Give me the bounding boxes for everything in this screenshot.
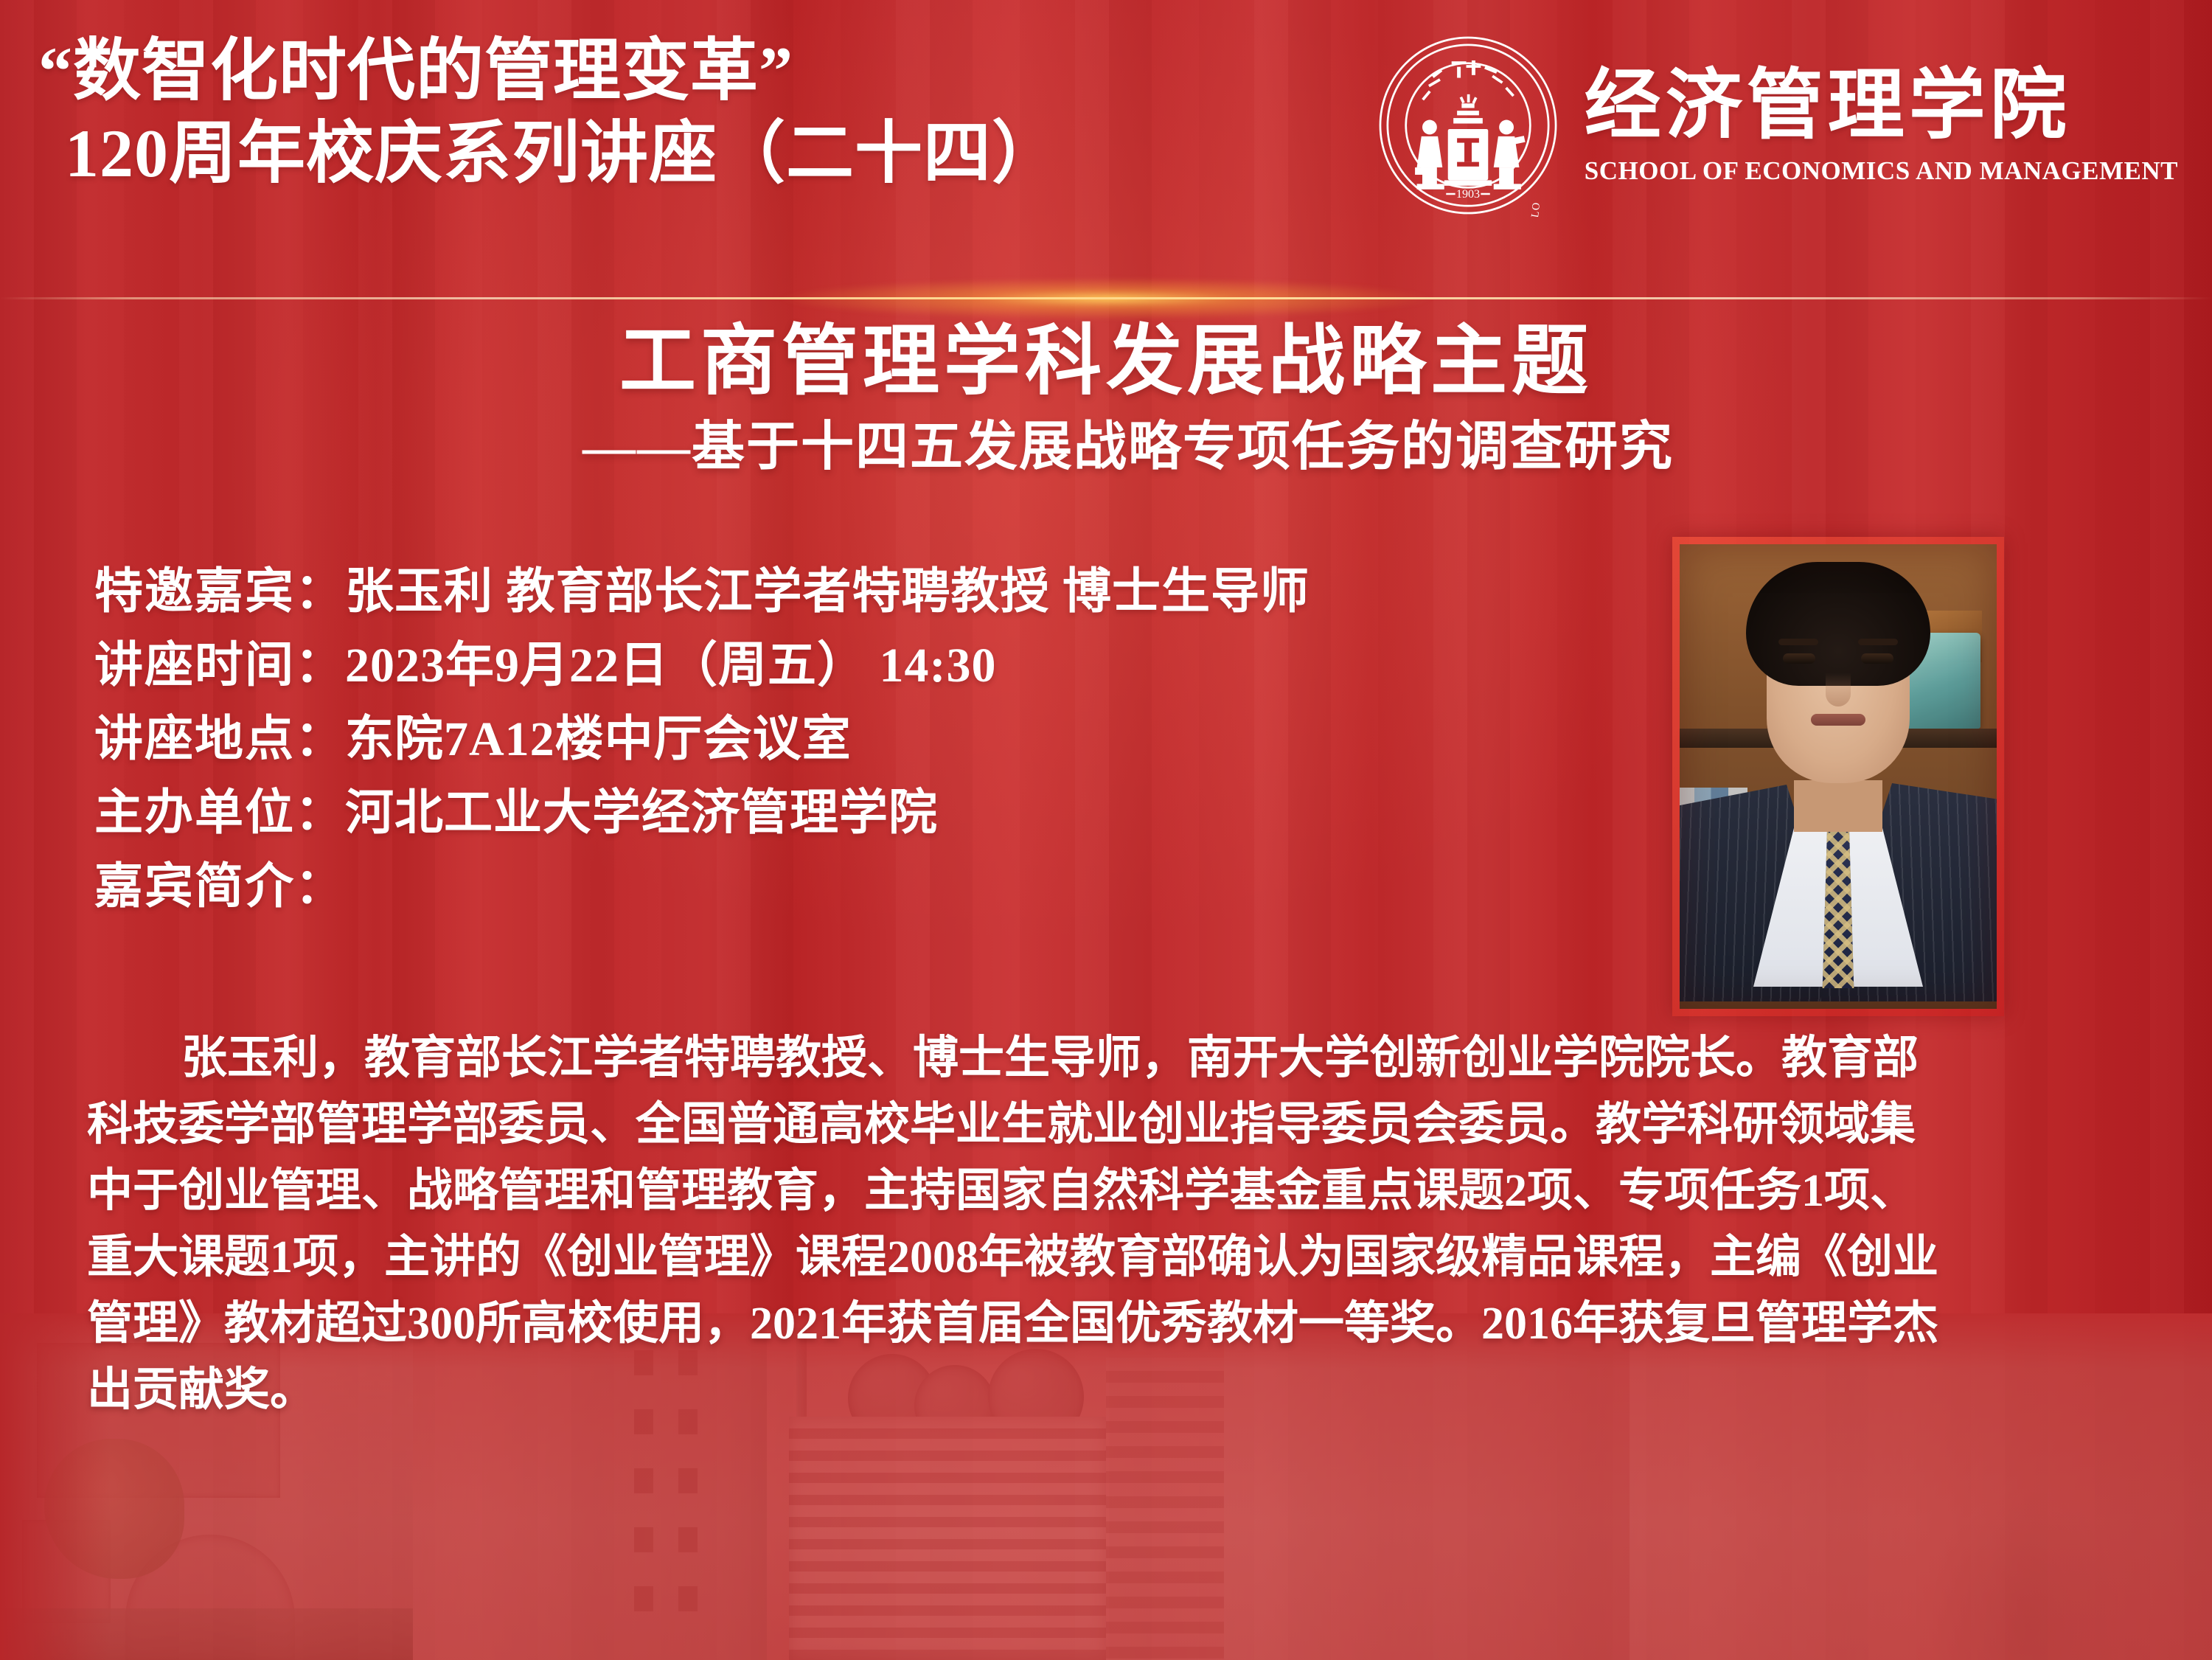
info-row-guest: 特邀嘉宾：张玉利 教育部长江学者特聘教授 博士生导师 (94, 568, 1628, 617)
bio-line: 重大课题1项，主讲的《创业管理》课程2008年被教育部确认为国家级精品课程，主编… (87, 1234, 2152, 1280)
speaker-portrait-frame (1672, 537, 2004, 1016)
info-label-time: 讲座时间： (94, 639, 345, 692)
info-row-bio-heading: 嘉宾简介： (94, 863, 1628, 911)
bio-line: 科技委学部管理学部委员、全国普通高校毕业生就业创业指导委员会委员。教学科研领域集 (87, 1102, 2152, 1147)
poster-header: “数智化时代的管理变革” 120周年校庆系列讲座（二十四） (0, 0, 2212, 288)
series-title: “数智化时代的管理变革” 120周年校庆系列讲座（二十四） (38, 29, 1277, 195)
series-title-line2: 120周年校庆系列讲座（二十四） (38, 112, 1277, 195)
lecture-info-block: 特邀嘉宾：张玉利 教育部长江学者特聘教授 博士生导师 讲座时间：2023年9月2… (94, 568, 1628, 937)
speaker-portrait (1680, 544, 1997, 1009)
speaker-bio: 张玉利，教育部长江学者特聘教授、博士生导师，南开大学创新创业学院院长。教育部 科… (87, 1035, 2152, 1434)
lecture-subtitle: ——基于十四五发展战略专项任务的调查研究 (0, 414, 2212, 480)
info-label-bio: 嘉宾简介： (94, 860, 345, 914)
info-label-location: 讲座地点： (94, 712, 345, 766)
university-seal-icon: 1903 HEBEI UNIVERSITY OF TECHNOLOGY (1377, 34, 1559, 217)
brand-text: 经济管理学院 SCHOOL OF ECONOMICS AND MANAGEMEN… (1585, 65, 2178, 186)
divider-line (0, 297, 2212, 299)
info-value-location: 东院7A12楼中厅会议室 (345, 712, 852, 766)
bio-line: 张玉利，教育部长江学者特聘教授、博士生导师，南开大学创新创业学院院长。教育部 (87, 1035, 2152, 1081)
lecture-poster: “数智化时代的管理变革” 120周年校庆系列讲座（二十四） (0, 0, 2212, 1660)
lecture-title: 工商管理学科发展战略主题 (0, 317, 2212, 408)
info-label-organizer: 主办单位： (94, 786, 345, 840)
school-brand: 1903 HEBEI UNIVERSITY OF TECHNOLOGY 经济管理… (1377, 34, 2178, 217)
bio-line: 出贡献奖。 (87, 1367, 2152, 1413)
series-title-line1: “数智化时代的管理变革” (38, 29, 1277, 112)
school-name-cn: 经济管理学院 (1585, 65, 2071, 147)
info-value-time: 2023年9月22日（周五） 14:30 (345, 639, 996, 692)
info-value-guest: 张玉利 教育部长江学者特聘教授 博士生导师 (345, 565, 1310, 619)
info-row-organizer: 主办单位：河北工业大学经济管理学院 (94, 789, 1628, 838)
info-value-organizer: 河北工业大学经济管理学院 (345, 786, 938, 840)
bio-line: 管理》教材超过300所高校使用，2021年获首届全国优秀教材一等奖。2016年获… (87, 1301, 2152, 1347)
bio-line: 中于创业管理、战略管理和管理教育，主持国家自然科学基金重点课题2项、专项任务1项… (87, 1168, 2152, 1214)
golden-divider (0, 286, 2212, 311)
info-label-guest: 特邀嘉宾： (94, 565, 345, 619)
main-title-block: 工商管理学科发展战略主题 ——基于十四五发展战略专项任务的调查研究 (0, 317, 2212, 480)
info-row-time: 讲座时间：2023年9月22日（周五） 14:30 (94, 642, 1628, 690)
seal-year: 1903 (1456, 188, 1480, 201)
info-row-location: 讲座地点：东院7A12楼中厅会议室 (94, 715, 1628, 764)
school-name-en: SCHOOL OF ECONOMICS AND MANAGEMENT (1585, 156, 2178, 186)
